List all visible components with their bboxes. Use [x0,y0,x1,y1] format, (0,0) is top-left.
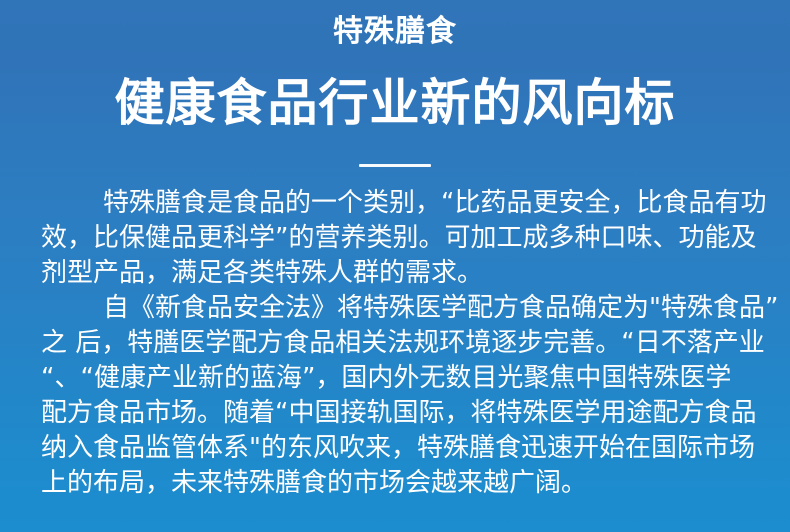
paragraph-2: 自《新食品安全法》将特殊医学配方食品确定为"特殊食品” 之 后，特膳医学配方食品… [41,291,751,501]
poster-header: 特殊膳食 健康食品行业新的风向标 [0,0,790,171]
paragraph-1-line-1: 特殊膳食是食品的一个类别，“比药品更安全，比食品有功 [41,186,751,221]
paragraph-2-line-2: 之 后，特膳医学配方食品相关法规环境逐步完善。“日不落产业 [41,326,751,361]
paragraph-2-line-6: 上的布局，未来特殊膳食的市场会越来越广阔。 [41,466,751,501]
body-copy: 特殊膳食是食品的一个类别，“比药品更安全，比食品有功 效，比保健品更科学”的营养… [41,186,751,501]
paragraph-2-line-3: “、“健康产业新的蓝海”，国内外无数目光聚焦中国特殊医学 [41,361,751,396]
paragraph-2-line-4: 配方食品市场。随着“中国接轨国际，将特殊医学用途配方食品 [41,396,751,431]
page-title: 健康食品行业新的风向标 [0,52,790,134]
poster-banner: 特殊膳食 健康食品行业新的风向标 特殊膳食是食品的一个类别，“比药品更安全，比食… [0,0,790,532]
eyebrow-title: 特殊膳食 [0,0,790,52]
paragraph-2-line-1: 自《新食品安全法》将特殊医学配方食品确定为"特殊食品” [41,291,751,326]
paragraph-2-line-5: 纳入食品监管体系"的东风吹来，特殊膳食迅速开始在国际市场 [41,431,751,466]
title-divider [359,164,431,167]
divider-container [0,134,790,171]
paragraph-1: 特殊膳食是食品的一个类别，“比药品更安全，比食品有功 效，比保健品更科学”的营养… [41,186,751,291]
paragraph-1-line-2: 效，比保健品更科学”的营养类别。可加工成多种口味、功能及 [41,221,751,256]
paragraph-1-line-3: 剂型产品，满足各类特殊人群的需求。 [41,256,751,291]
